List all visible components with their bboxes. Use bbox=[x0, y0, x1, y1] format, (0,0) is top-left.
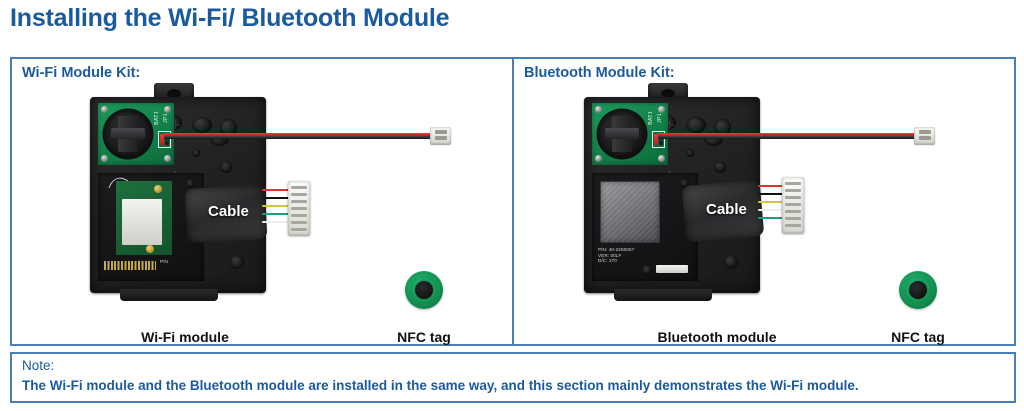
nfc-tag-wifi bbox=[405, 271, 443, 309]
coin-cell-holder bbox=[598, 110, 646, 158]
rf-shield-can bbox=[600, 181, 660, 243]
silk-bat1: BAT1 bbox=[154, 111, 160, 125]
silk-bat1: BAT1 bbox=[648, 111, 654, 125]
wifi-module-caption: Wi-Fi module bbox=[115, 329, 255, 345]
battery-jst-connector bbox=[914, 127, 935, 144]
page-title: Installing the Wi-Fi/ Bluetooth Module bbox=[10, 4, 449, 33]
kit-panel: Wi-Fi Module Kit: ✛ ✛ bbox=[10, 57, 1016, 346]
note-box: Note: The Wi-Fi module and the Bluetooth… bbox=[10, 352, 1016, 403]
bluetooth-module-board: P/N: 40-2250007 VER: 00LF D/C: 270 bbox=[592, 173, 698, 281]
battery-wire-black bbox=[164, 136, 432, 139]
bluetooth-cable-connector bbox=[782, 177, 804, 233]
bluetooth-module-caption: Bluetooth module bbox=[632, 329, 802, 345]
wifi-module-photo: ✛ ✛ BAT1 JP1 bbox=[12, 83, 512, 323]
enclosure-bottom-tab bbox=[614, 289, 712, 301]
wifi-kit-column: Wi-Fi Module Kit: ✛ ✛ bbox=[12, 59, 514, 344]
nfc-tag-caption-right: NFC tag bbox=[858, 329, 978, 345]
wifi-kit-header: Wi-Fi Module Kit: bbox=[22, 65, 140, 81]
board-silkscreen-text: P/N: 40-2250007 VER: 00LF D/C: 270 bbox=[598, 247, 634, 264]
bluetooth-kit-header: Bluetooth Module Kit: bbox=[524, 65, 675, 81]
battery-jst-connector bbox=[430, 127, 451, 144]
note-label: Note: bbox=[22, 358, 54, 373]
battery-wire-black bbox=[658, 136, 916, 139]
coin-cell-holder bbox=[104, 110, 152, 158]
silk-jp1: JP1 bbox=[163, 113, 169, 123]
nfc-tag-bluetooth bbox=[899, 271, 937, 309]
note-text: The Wi-Fi module and the Bluetooth modul… bbox=[22, 378, 859, 393]
bluetooth-module-photo: ✛ ✛ BAT1 JP1 bbox=[514, 83, 1014, 323]
cable-label-bluetooth: Cable bbox=[706, 201, 747, 218]
silk-jp1: JP1 bbox=[657, 113, 663, 123]
cable-label-wifi: Cable bbox=[208, 203, 249, 220]
battery-pcb: BAT1 JP1 bbox=[592, 103, 668, 165]
battery-pcb: BAT1 JP1 bbox=[98, 103, 174, 165]
bluetooth-device-assembly: ✛ ✛ BAT1 JP1 bbox=[584, 83, 776, 307]
wifi-radio-card bbox=[116, 181, 172, 255]
enclosure-bottom-tab bbox=[120, 289, 218, 301]
wifi-device-assembly: ✛ ✛ BAT1 JP1 bbox=[90, 83, 282, 307]
bluetooth-kit-column: Bluetooth Module Kit: ✛ ✛ bbox=[514, 59, 1014, 344]
nfc-tag-caption-left: NFC tag bbox=[364, 329, 484, 345]
wifi-cable-connector bbox=[288, 181, 310, 235]
